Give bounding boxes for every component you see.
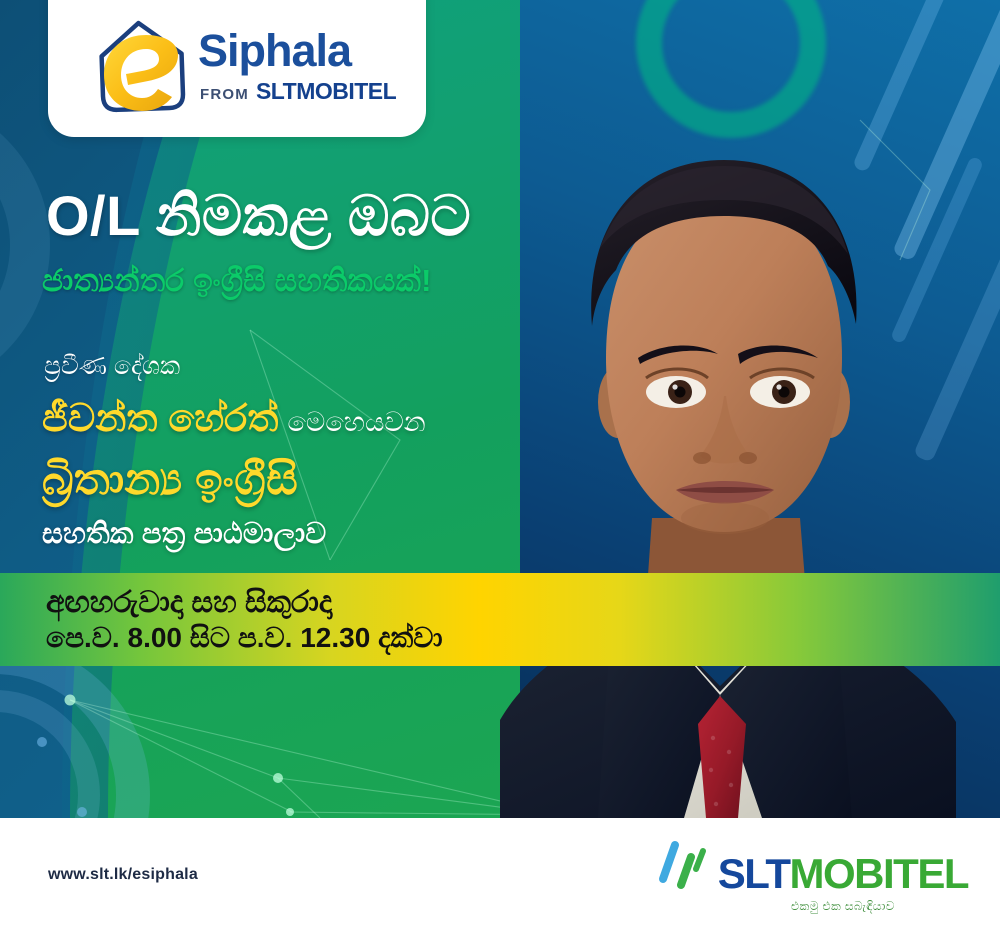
sltmobitel-stripes-icon — [650, 835, 712, 905]
siphala-e-icon — [86, 15, 194, 119]
footer-bar: www.slt.lk/esiphala SLTMOBITEL එකමු එක ස… — [0, 818, 1000, 931]
logo-parent-brand: SLTMOBITEL — [256, 78, 396, 105]
website-url[interactable]: www.slt.lk/esiphala — [48, 866, 198, 884]
schedule-days: අඟහරුවාදා සහ සිකුරාදා — [46, 585, 332, 620]
presenter-line: ජීවන්ත හේරත්මෙහෙයවන — [42, 398, 426, 441]
sltmobitel-tagline: එකමු එක සබැඳියාව — [791, 899, 895, 914]
presenter-name: ජීවන්ත හේරත් — [42, 398, 279, 440]
schedule-time: පෙ.ව. 8.00 සිට ප.ව. 12.30 දක්වා — [46, 621, 443, 654]
presenter-verb: මෙහෙයවන — [288, 407, 426, 437]
logo-from-label: FROM — [200, 86, 249, 103]
mobitel-wordmark: MOBITEL — [790, 850, 968, 897]
course-title: බ්‍රිතාන්‍ය ඉංග්‍රීසි — [42, 455, 298, 505]
headline-main: O/L නිමකළ ඔබට — [46, 186, 471, 246]
schedule-band: අඟහරුවාදා සහ සිකුරාදා පෙ.ව. 8.00 සිට ප.ව… — [0, 573, 1000, 666]
siphala-logo-card: Siphala FROM SLTMOBITEL — [48, 0, 426, 137]
headline-sub: ජාත්‍යන්තර ඉංග්‍රීසි සහතිකයක්! — [42, 263, 432, 299]
slt-wordmark: SLT — [718, 850, 790, 897]
sltmobitel-logo: SLTMOBITEL එකමු එක සබැඳියාව — [650, 835, 968, 914]
course-subtitle: සහතික පත්‍ර පාඨමාලාව — [42, 518, 326, 551]
presenter-label: ප්‍රවීණ දේශක — [44, 352, 180, 381]
presenter-photo — [470, 120, 1000, 818]
siphala-wordmark: Siphala — [198, 28, 396, 73]
advertisement-poster: Siphala FROM SLTMOBITEL O/L නිමකළ ඔබට ජා… — [0, 0, 1000, 931]
